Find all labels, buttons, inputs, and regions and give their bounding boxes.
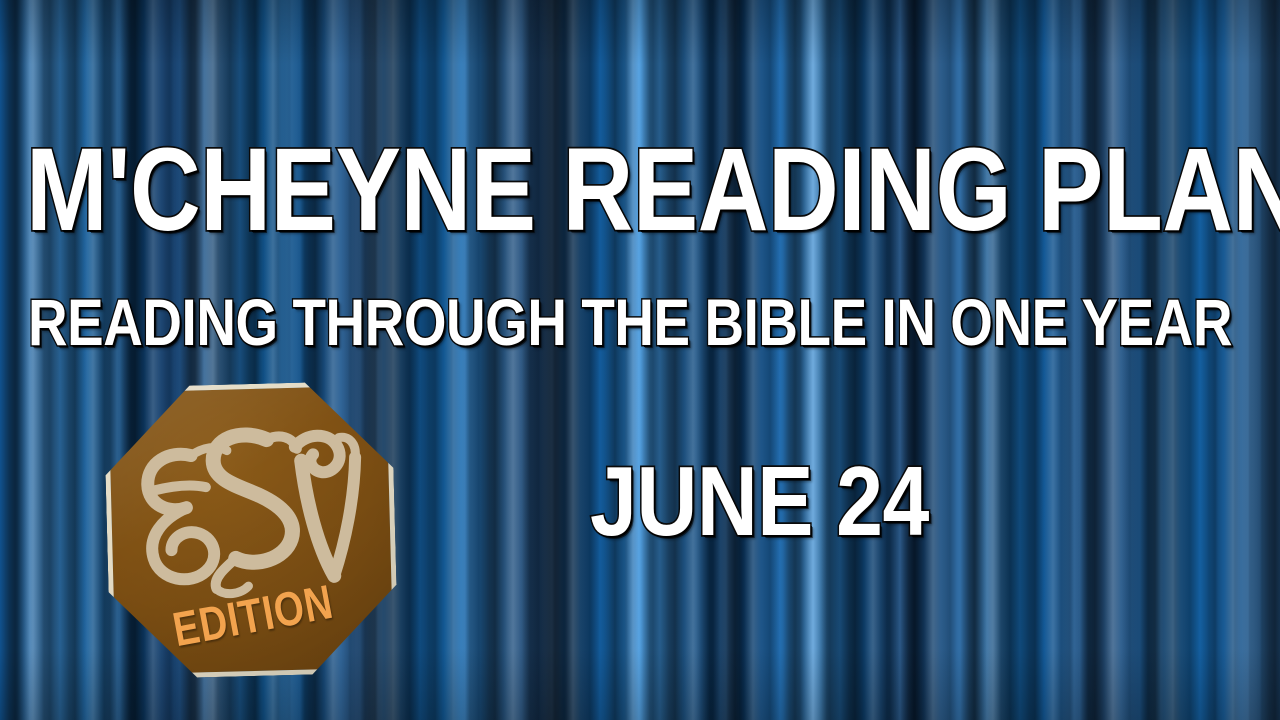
page-title: M'CHEYNE READING PLAN <box>26 131 1280 249</box>
page-subtitle: READING THROUGH THE BIBLE IN ONE YEAR <box>28 289 1232 355</box>
title-slide: M'CHEYNE READING PLAN READING THROUGH TH… <box>0 0 1280 720</box>
esv-edition-badge: EDITION <box>103 380 399 679</box>
date-label: JUNE 24 <box>590 452 929 550</box>
